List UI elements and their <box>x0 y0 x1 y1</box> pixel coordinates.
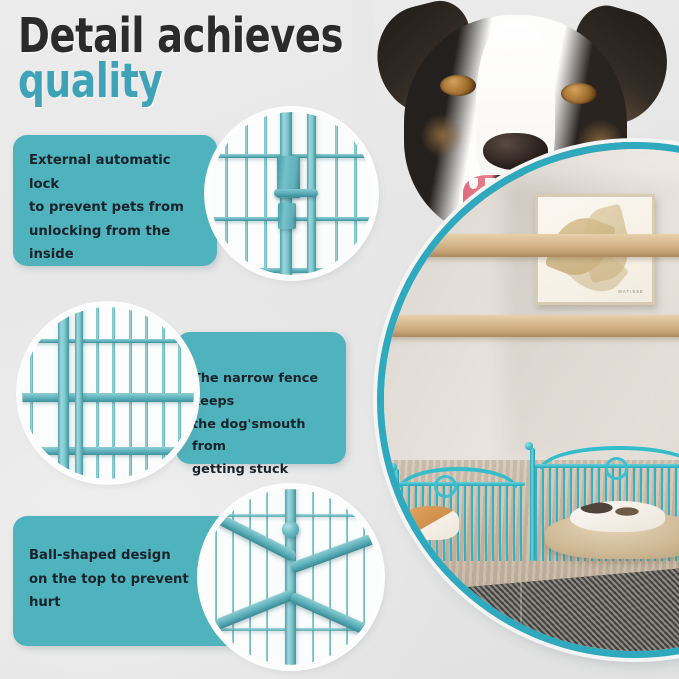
page-title-line1: Detail achieves <box>18 14 343 58</box>
page-title-line2: quality <box>18 60 343 103</box>
detail-photo-ball-inner <box>203 489 379 665</box>
infographic-canvas: Detail achieves quality <box>0 0 679 679</box>
room-scene-photo: MATISSE <box>377 142 679 658</box>
room-scene-content: MATISSE <box>384 149 679 651</box>
dog-eye-right <box>561 83 597 104</box>
dog-lying-on-bed <box>570 501 665 532</box>
detail-photo-ball-closeup <box>203 489 379 665</box>
page-title: Detail achieves quality <box>18 14 424 103</box>
corgi-dog <box>399 506 459 540</box>
shelf-board <box>377 234 679 257</box>
fence-bar <box>245 112 248 275</box>
art-print-label: MATISSE <box>618 289 644 294</box>
fence-post-a <box>58 307 69 479</box>
fence-rail <box>22 339 194 343</box>
latch-lever <box>274 189 318 197</box>
detail-photo-lock-inner <box>210 112 373 275</box>
shelf-board <box>377 315 679 338</box>
fence-bar <box>264 112 267 275</box>
fence-post-b <box>75 307 83 479</box>
callout-external-lock-text: External automatic lock to prevent pets … <box>29 149 201 267</box>
detail-photo-bars-closeup <box>22 307 194 479</box>
fence-bar <box>354 112 357 275</box>
detail-photo-bars-inner <box>22 307 194 479</box>
pen-top-rail <box>394 482 525 486</box>
detail-photo-lock-closeup <box>210 112 373 275</box>
fence-rail-low <box>22 447 194 455</box>
callout-external-lock: External automatic lock to prevent pets … <box>13 135 217 266</box>
fence-bar <box>335 112 338 275</box>
rug-seam <box>520 582 522 658</box>
pet-fence-pen <box>384 430 679 561</box>
ball-finial <box>282 521 299 538</box>
fence-bar <box>225 112 228 275</box>
callout-narrow-fence-text: The narrow fence keeps the dog'smouth fr… <box>192 368 332 482</box>
latch-catch <box>278 203 296 229</box>
callout-narrow-fence: The narrow fence keeps the dog'smouth fr… <box>176 332 346 464</box>
pen-post <box>394 469 399 560</box>
pen-post <box>530 448 535 560</box>
pen-ball-finial <box>525 442 533 450</box>
pen-decor-ring <box>605 457 628 480</box>
corner-post <box>285 489 296 665</box>
pen-ball-finial <box>389 463 397 471</box>
fence-rail-mid <box>22 393 194 402</box>
fence-bars-group <box>22 307 194 479</box>
fence-bars-group <box>203 489 379 665</box>
